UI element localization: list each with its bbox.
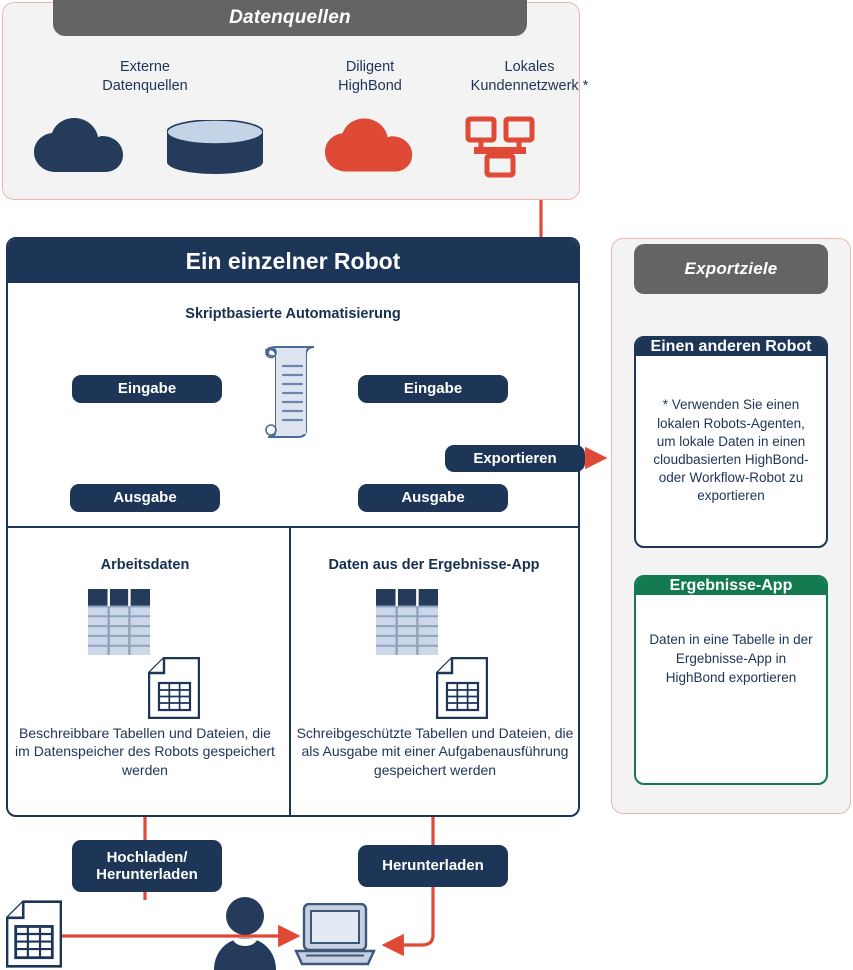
pill-output-right[interactable]: Ausgabe xyxy=(358,484,508,512)
export-card-body: Daten in eine Tabelle in der Ergebnisse-… xyxy=(636,595,826,783)
robot-horizontal-divider xyxy=(8,526,578,528)
column-desc-arbeitsdaten: Beschreibbare Tabellen und Dateien, die … xyxy=(14,724,276,779)
datasource-item-localnetwork: Lokales Kundennetzwerk * xyxy=(442,58,617,96)
spreadsheet-table-icon xyxy=(376,589,438,655)
pill-input-right[interactable]: Eingabe xyxy=(358,375,508,403)
datasource-label-line1: Lokales xyxy=(442,58,617,77)
script-scroll-icon xyxy=(258,344,324,440)
column-desc-ergebnisse: Schreibgeschützte Tabellen und Dateien, … xyxy=(296,724,574,779)
database-cylinder-icon xyxy=(167,120,263,174)
file-table-icon xyxy=(148,657,200,719)
datasource-label-line2: Datenquellen xyxy=(55,77,235,96)
file-table-icon xyxy=(436,657,488,719)
export-card-body: * Verwenden Sie einen lokalen Robots-Age… xyxy=(636,356,826,546)
datasources-header: Datenquellen xyxy=(53,0,527,36)
pill-export[interactable]: Exportieren xyxy=(445,445,585,472)
robot-subtitle: Skriptbasierte Automatisierung xyxy=(8,306,578,322)
datasource-item-highbond: Diligent HighBond xyxy=(310,58,430,96)
pill-output-left[interactable]: Ausgabe xyxy=(70,484,220,512)
network-icon xyxy=(465,116,535,178)
export-targets-header: Exportziele xyxy=(634,244,828,294)
robot-title: Ein einzelner Robot xyxy=(8,239,578,283)
datasource-label-line1: Diligent xyxy=(310,58,430,77)
cloud-icon-red xyxy=(323,118,421,174)
pill-upload-download-line2: Herunterladen xyxy=(96,866,198,883)
datasource-label-line2: HighBond xyxy=(310,77,430,96)
file-table-icon xyxy=(6,900,62,968)
datasource-label-line1: Externe xyxy=(55,58,235,77)
export-card-another-robot[interactable]: Einen anderen Robot * Verwenden Sie eine… xyxy=(634,336,828,548)
pill-download[interactable]: Herunterladen xyxy=(358,845,508,887)
diagram-canvas: Datenquellen Externe Datenquellen Dilige… xyxy=(0,0,853,970)
pill-upload-download-line1: Hochladen/ xyxy=(107,849,188,866)
pill-input-left[interactable]: Eingabe xyxy=(72,375,222,403)
datasource-item-external: Externe Datenquellen xyxy=(55,58,235,96)
cloud-icon-navy xyxy=(32,118,132,174)
datasource-label-line2: Kundennetzwerk * xyxy=(442,77,617,96)
export-card-title: Ergebnisse-App xyxy=(636,577,826,595)
pill-upload-download[interactable]: Hochladen/ Herunterladen xyxy=(72,840,222,892)
export-card-results-app[interactable]: Ergebnisse-App Daten in eine Tabelle in … xyxy=(634,575,828,785)
robot-vertical-divider xyxy=(289,526,291,815)
laptop-icon xyxy=(294,903,376,967)
column-title-ergebnisse: Daten aus der Ergebnisse-App xyxy=(300,557,568,573)
export-card-title: Einen anderen Robot xyxy=(636,338,826,356)
person-icon xyxy=(212,896,278,970)
spreadsheet-table-icon xyxy=(88,589,150,655)
column-title-arbeitsdaten: Arbeitsdaten xyxy=(18,557,272,573)
